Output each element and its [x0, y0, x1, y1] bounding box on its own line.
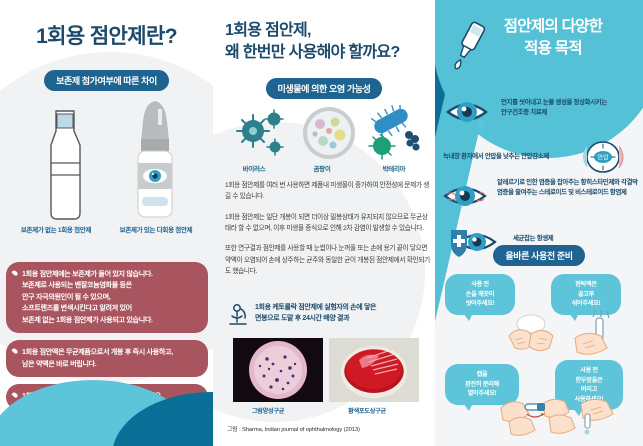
bacteria-icon — [365, 105, 423, 161]
microbe-label-bacteria: 박테리아 — [359, 163, 429, 173]
infographic-page: 1회용 점안제란? 보존제 첨가여부에 따른 차이 — [0, 0, 643, 446]
prep-bubble-wash-hands: 사용 전 손을 깨끗이 씻어주세요! — [445, 274, 515, 315]
column1-pill-wrap: 보존제 첨가여부에 따른 차이 — [0, 70, 213, 91]
drop-icon — [11, 269, 18, 276]
contamination-pill: 미생물에 의한 오염 가능성 — [266, 78, 383, 99]
microbe-label-virus: 바이러스 — [221, 163, 287, 173]
gram-positive-cocci-photo — [233, 338, 323, 402]
callout-item: 1회용 점안액은 무균제품으로서 개봉 후 즉시 사용하고, 남은 약액은 바로… — [6, 340, 208, 377]
microbe-illustrations — [213, 103, 435, 165]
column-what-is-single-use: 1회용 점안제란? 보존제 첨가여부에 따른 차이 — [0, 0, 213, 446]
virus-icon — [231, 107, 289, 161]
purpose-text: 세균잡는 항생제 — [513, 234, 623, 244]
preparation-steps: 사용 전 손을 깨끗이 씻어주세요! 현탁액은 골고루 섞어주세요! 캡을 완전… — [435, 268, 643, 446]
photo-caption-gram-positive: 그람양성구균 — [223, 406, 313, 415]
body-paragraph: 1회용 점안제는 일단 개봉이 되면 더이상 밀봉상태가 유지되지 않으므로 무… — [225, 212, 430, 235]
discard-drop-icon — [567, 388, 629, 436]
source-citation: 그림 : Sharma, Indian journal of ophthalmo… — [227, 424, 360, 433]
microbe-label-fungus: 곰팡이 — [289, 163, 355, 173]
purpose-text: 알레르기로 인한 염증을 잡아주는 항히스타민제와 각결막 염증을 줄여주는 스… — [497, 178, 639, 199]
eye-pressure-icon: 안압 — [575, 140, 631, 174]
bottle-comparison-illustration — [0, 95, 213, 225]
purpose-item: 알레르기로 인한 염증을 잡아주는 항히스타민제와 각결막 염증을 줄여주는 스… — [435, 176, 643, 216]
column2-pill-wrap: 미생물에 의한 오염 가능성 — [213, 78, 435, 99]
caption-single-use: 보존제가 없는 1회용 점안제 — [6, 224, 106, 234]
caption-multi-use: 보존제가 있는 다회용 점안제 — [104, 224, 208, 234]
column3-title: 점안제의 다양한 적용 목적 — [465, 16, 641, 59]
svg-text:안압: 안압 — [597, 154, 609, 162]
drop-icon — [11, 348, 18, 355]
column3-pill-wrap: 올바른 사용전 준비 — [435, 245, 643, 266]
column2-title: 1회용 점안제, 왜 한번만 사용해야 할까요? — [225, 20, 435, 64]
column-purposes-and-prep: 점안제의 다양한 적용 목적 먼지를 씻어내고 눈물 생성을 정상화시키는 안구… — [435, 0, 643, 446]
column-why-single-use: 1회용 점안제, 왜 한번만 사용해야 할까요? 미생물에 의한 오염 가능성 — [213, 0, 435, 446]
proper-preparation-pill: 올바른 사용전 준비 — [493, 245, 584, 266]
eye-tear-icon — [445, 96, 497, 134]
column2-body: 1회용 점안제를 여러 번 사용하면 제품내 미생물이 증가하여 안전성에 문제… — [225, 180, 430, 286]
purpose-text: 녹내장 환자에서 안압을 낮추는 안압감소제 — [443, 152, 569, 162]
eye-allergy-icon — [441, 178, 493, 214]
purpose-text: 먼지를 씻어내고 눈물 생성을 정상화시키는 안구건조증 치료제 — [501, 98, 633, 119]
lab-experiment-header: 1회용 케토롤락 점안제에 실험자의 손에 닿은 면봉으로 도말 후 24시간 … — [227, 303, 427, 327]
single-use-vial-icon — [42, 101, 88, 223]
culture-photos — [229, 338, 425, 404]
purpose-list: 먼지를 씻어내고 눈물 생성을 정상화시키는 안구건조증 치료제 녹내장 환자에… — [435, 94, 643, 264]
purpose-item: 먼지를 씻어내고 눈물 생성을 정상화시키는 안구건조증 치료제 — [435, 94, 643, 134]
washing-hands-icon — [501, 312, 563, 360]
microscope-icon — [227, 303, 249, 327]
purpose-item: 녹내장 환자에서 안압을 낮추는 안압감소제 안압 — [435, 138, 643, 172]
multi-use-bottle-icon — [128, 97, 182, 223]
lab-experiment-title: 1회용 케토롤락 점안제에 실험자의 손에 닿은 면봉으로 도말 후 24시간 … — [255, 303, 376, 325]
body-paragraph: 또한 연구결과 점안제를 사용할 때 눈썹이나 눈꺼풀 또는 손에 용기 끝이 … — [225, 243, 430, 277]
shaking-vial-icon — [563, 308, 625, 360]
callout-text: 1회용 점안제에는 보존제가 들어 있지 않습니다. 보존제로 사용되는 벤잘코… — [22, 270, 153, 324]
preservative-difference-pill: 보존제 첨가여부에 따른 차이 — [44, 70, 169, 91]
drop-icon — [11, 392, 18, 399]
callout-text: 1회용 점안액은 무균제품으로서 개봉 후 즉시 사용하고, 남은 약액은 바로… — [22, 348, 173, 367]
column1-title: 1회용 점안제란? — [0, 20, 213, 50]
staphylococcus-aureus-photo — [329, 338, 419, 402]
body-paragraph: 1회용 점안제를 여러 번 사용하면 제품내 미생물이 증가하여 안전성에 문제… — [225, 180, 430, 203]
petri-dish-fungus-icon — [301, 105, 357, 161]
photo-caption-staph: 황색포도상구균 — [317, 406, 417, 415]
callout-item: 1회용 점안제에는 보존제가 들어 있지 않습니다. 보존제로 사용되는 벤잘코… — [6, 262, 208, 333]
